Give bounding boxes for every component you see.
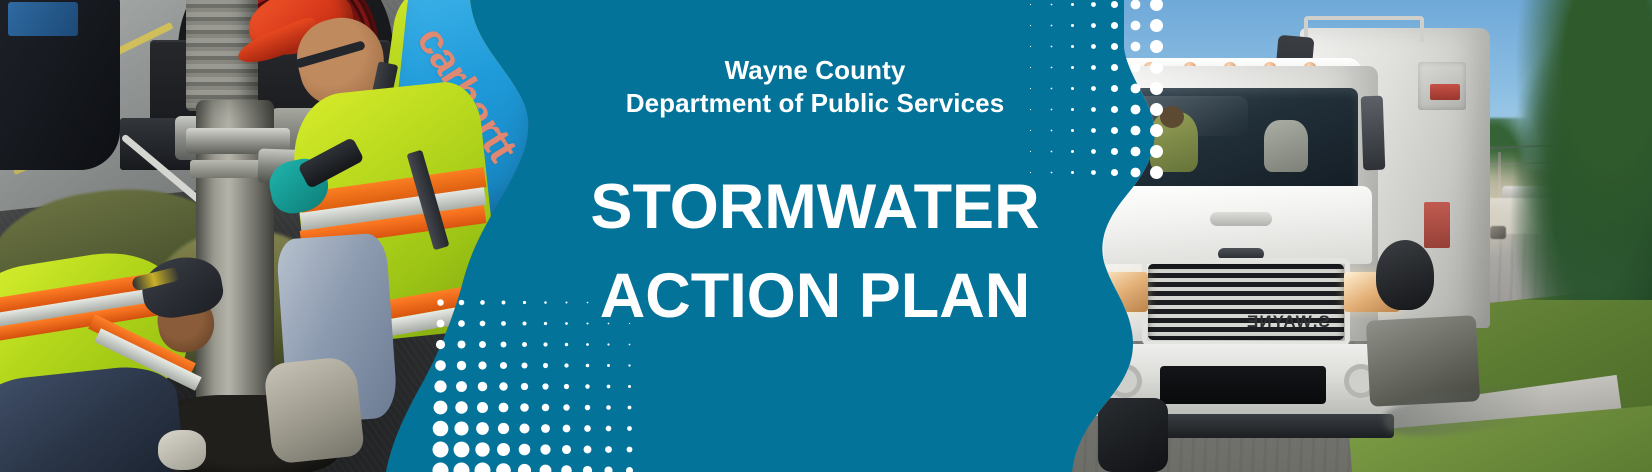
side-mirror-right bbox=[1361, 96, 1386, 171]
side-mirror-left bbox=[1083, 96, 1108, 171]
headline-line-2: ACTION PLAN bbox=[590, 252, 1039, 341]
photo-street-sweeper-truck: S.WAYNE bbox=[1032, 0, 1652, 472]
stormwater-action-plan-banner: carhartt bbox=[0, 0, 1652, 472]
page-title: STORMWATER ACTION PLAN bbox=[590, 163, 1039, 342]
hopper-rear-reflector bbox=[1424, 202, 1450, 248]
hood-vent bbox=[1210, 212, 1272, 226]
large-foreground-tree bbox=[1502, 0, 1652, 300]
left-photo-scene: carhartt bbox=[0, 0, 580, 472]
truck-blue-toolbox bbox=[8, 2, 78, 36]
bumper-decal-text: S.WAYNE bbox=[1246, 312, 1330, 332]
worker-boot bbox=[263, 355, 365, 464]
bumper-center-intake bbox=[1160, 366, 1326, 404]
bumper-fog-recess-left bbox=[1108, 364, 1142, 398]
hopper-marker-light bbox=[1430, 84, 1460, 100]
front-wheel bbox=[1098, 398, 1168, 472]
organization-name: Wayne County bbox=[725, 54, 906, 87]
passenger-seat bbox=[1264, 120, 1308, 172]
banner-text-block: Wayne County Department of Public Servic… bbox=[580, 0, 1050, 472]
crouching-worker-hand bbox=[158, 430, 206, 470]
headline-line-1: STORMWATER bbox=[590, 172, 1039, 242]
sweeper-gutter-broom-housing bbox=[1376, 240, 1434, 310]
headlight-left bbox=[1090, 272, 1148, 312]
department-name: Department of Public Services bbox=[626, 87, 1005, 120]
driver-head bbox=[1160, 106, 1184, 128]
hopper-roof-rail bbox=[1304, 16, 1424, 42]
right-photo-scene: S.WAYNE bbox=[1032, 0, 1652, 472]
photo-crew-servicing-storm-drain: carhartt bbox=[0, 0, 580, 472]
